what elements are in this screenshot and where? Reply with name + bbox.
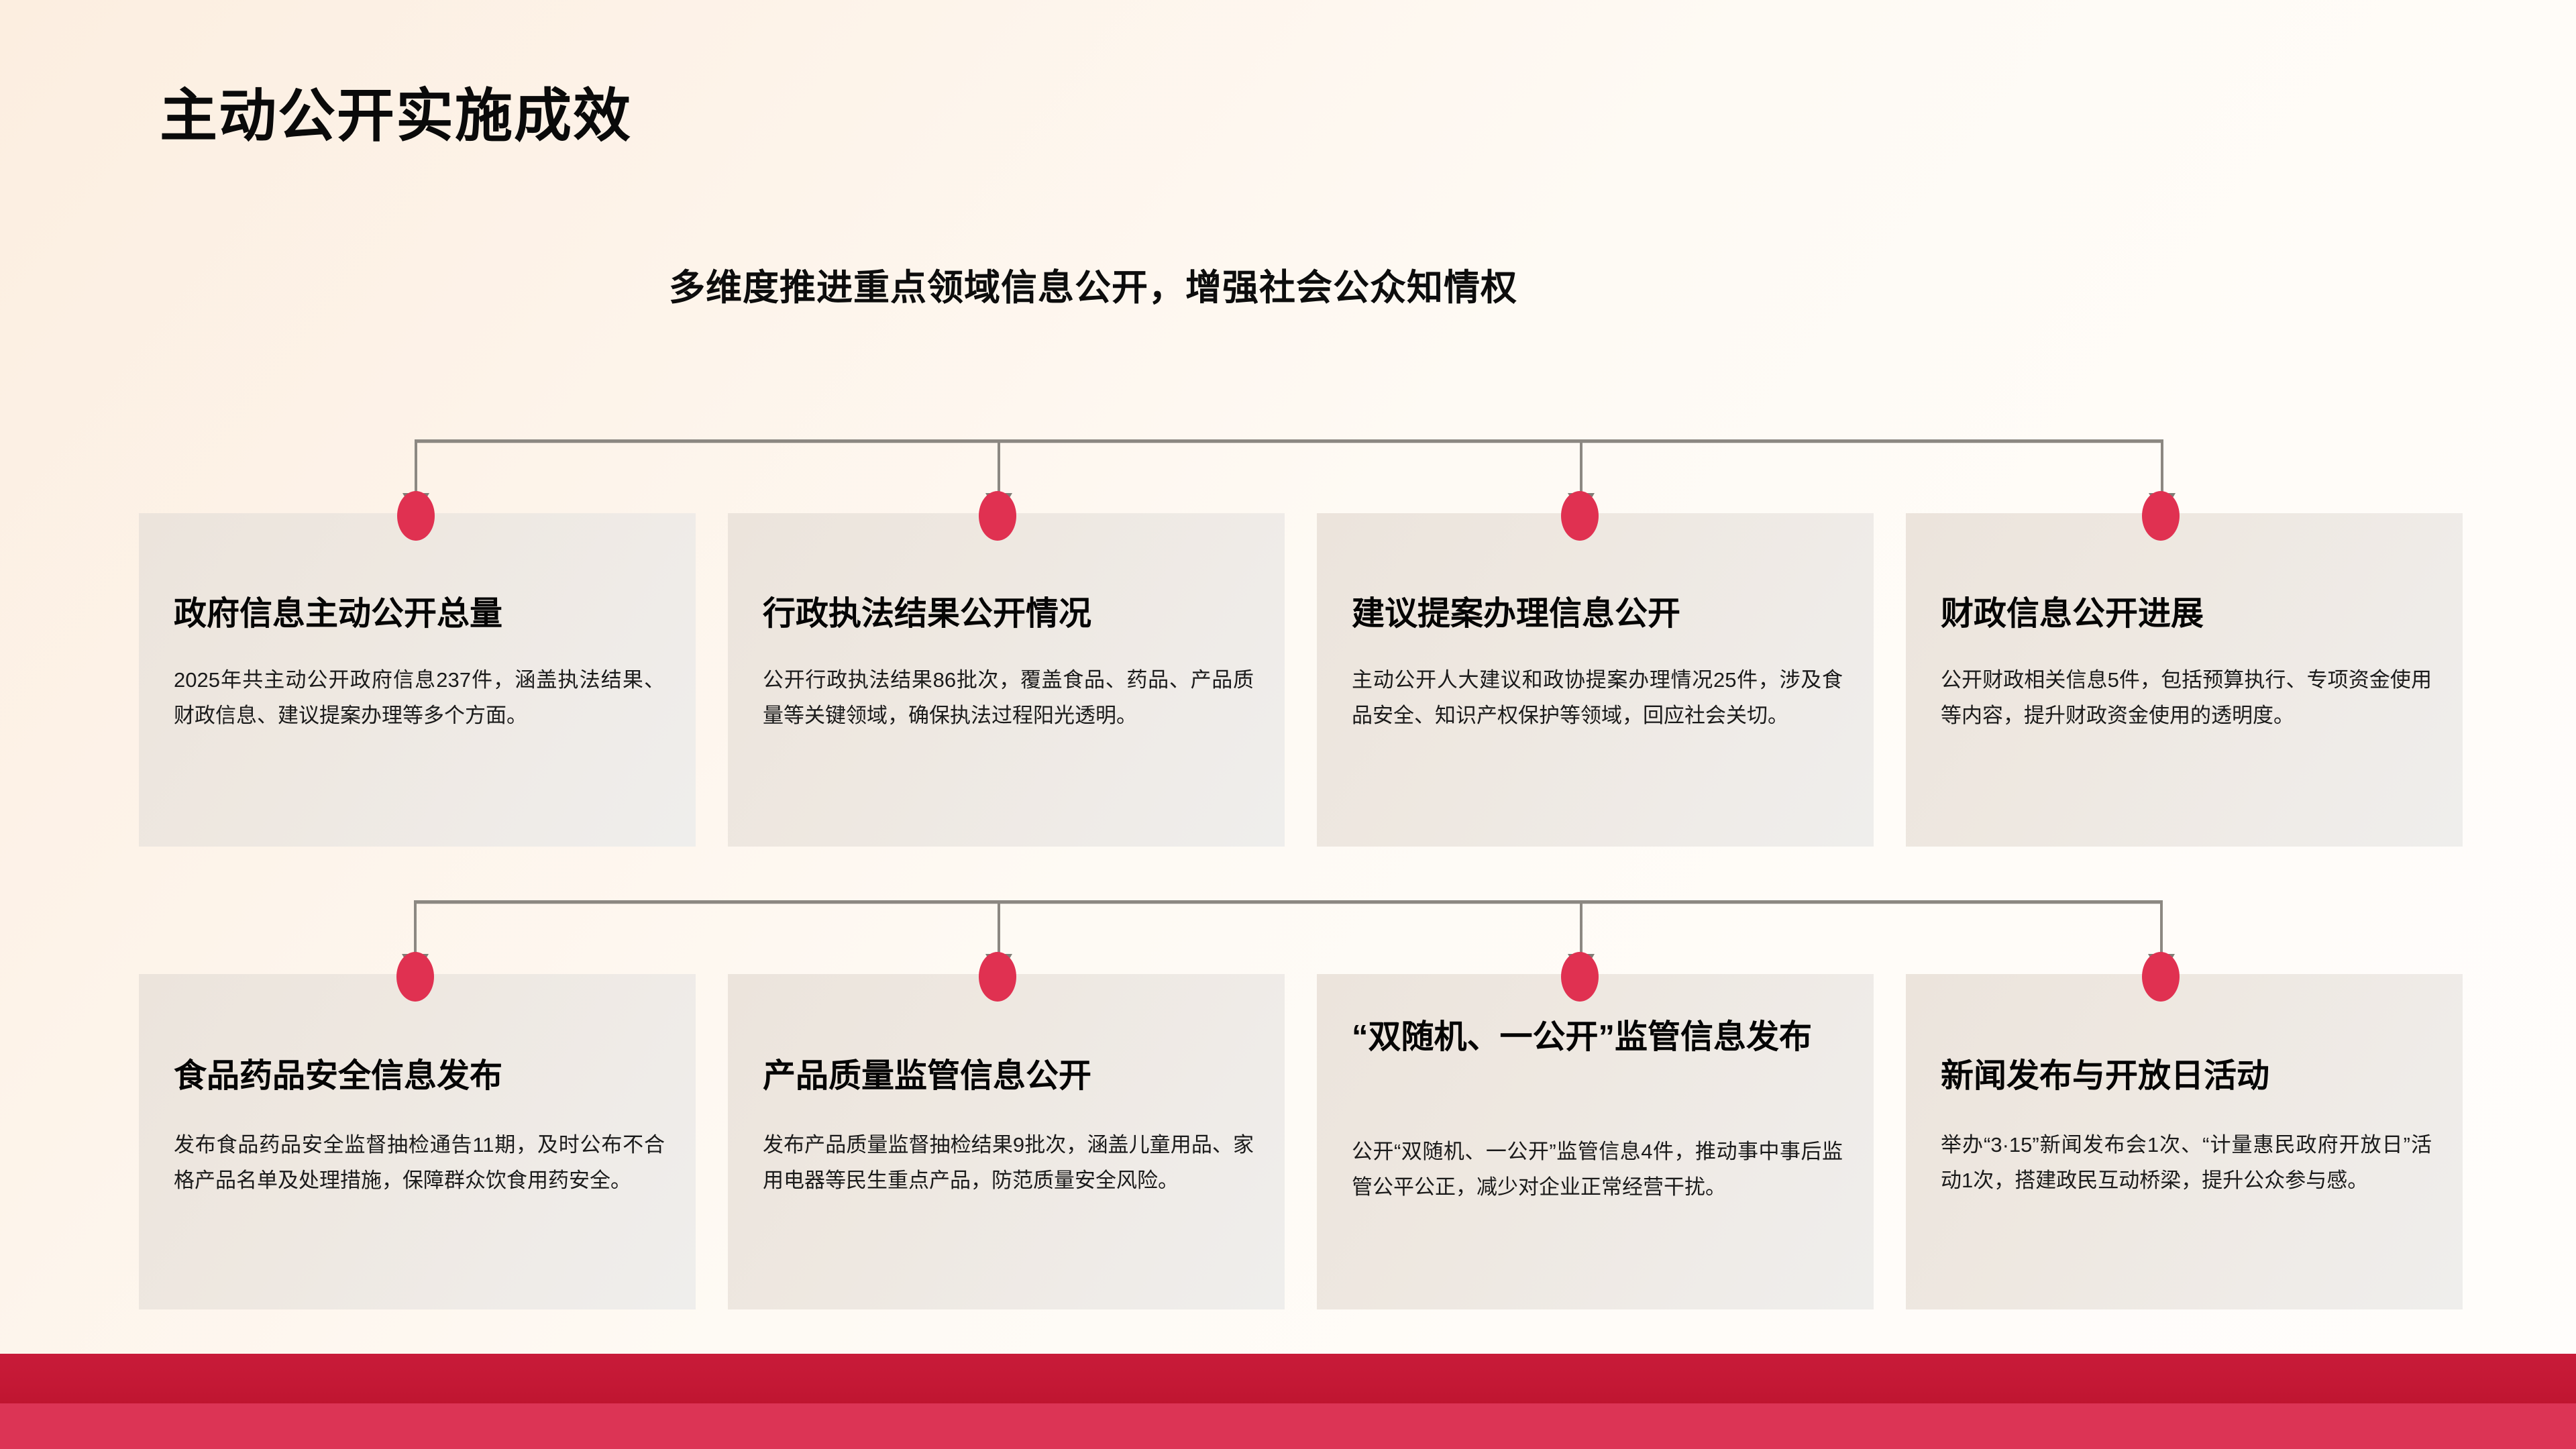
marker-dot-icon — [2142, 491, 2180, 541]
card-title: 食品药品安全信息发布 — [174, 1056, 669, 1097]
connector-horizontal-row2 — [414, 900, 2161, 904]
card-body: 2025年共主动公开政府信息237件，涵盖执法结果、财政信息、建议提案办理等多个… — [174, 662, 665, 734]
footer-bar-primary — [0, 1354, 2576, 1403]
footer-bar-secondary — [0, 1403, 2576, 1449]
card-press-release-open-day[interactable]: 新闻发布与开放日活动 举办“3·15”新闻发布会1次、“计量惠民政府开放日”活动… — [1906, 974, 2463, 1309]
card-government-info-total[interactable]: 政府信息主动公开总量 2025年共主动公开政府信息237件，涵盖执法结果、财政信… — [139, 513, 696, 847]
card-food-drug-safety[interactable]: 食品药品安全信息发布 发布食品药品安全监督抽检通告11期，及时公布不合格产品名单… — [139, 974, 696, 1309]
marker-dot-icon — [1561, 491, 1599, 541]
card-title: 政府信息主动公开总量 — [174, 594, 669, 635]
marker-dot-icon — [979, 952, 1016, 1002]
card-body: 主动公开人大建议和政协提案办理情况25件，涉及食品安全、知识产权保护等领域，回应… — [1352, 662, 1843, 734]
marker-dot-icon — [979, 491, 1016, 541]
card-law-enforcement-results[interactable]: 行政执法结果公开情况 公开行政执法结果86批次，覆盖食品、药品、产品质量等关键领… — [728, 513, 1285, 847]
card-title: 产品质量监管信息公开 — [763, 1056, 1258, 1097]
marker-dot-icon — [1561, 952, 1599, 1002]
marker-dot-icon — [396, 952, 434, 1002]
page-title: 主动公开实施成效 — [160, 87, 632, 145]
card-body: 发布食品药品安全监督抽检通告11期，及时公布不合格产品名单及处理措施，保障群众饮… — [174, 1127, 665, 1199]
slide-canvas: 主动公开实施成效 多维度推进重点领域信息公开，增强社会公众知情权 政府信息主动公… — [0, 0, 2576, 1449]
card-body: 公开“双随机、一公开”监管信息4件，推动事中事后监管公平公正，减少对企业正常经营… — [1352, 1134, 1843, 1205]
card-title: 建议提案办理信息公开 — [1352, 594, 1847, 635]
card-title: “双随机、一公开”监管信息发布 — [1352, 1017, 1847, 1058]
marker-dot-icon — [397, 491, 435, 541]
card-body: 举办“3·15”新闻发布会1次、“计量惠民政府开放日”活动1次，搭建政民互动桥梁… — [1941, 1127, 2432, 1199]
card-proposal-handling[interactable]: 建议提案办理信息公开 主动公开人大建议和政协提案办理情况25件，涉及食品安全、知… — [1317, 513, 1874, 847]
card-body: 公开行政执法结果86批次，覆盖食品、药品、产品质量等关键领域，确保执法过程阳光透… — [763, 662, 1254, 734]
card-double-random-one-public[interactable]: “双随机、一公开”监管信息发布 公开“双随机、一公开”监管信息4件，推动事中事后… — [1317, 974, 1874, 1309]
card-title: 行政执法结果公开情况 — [763, 594, 1258, 635]
card-title: 新闻发布与开放日活动 — [1941, 1056, 2436, 1097]
card-product-quality-supervision[interactable]: 产品质量监管信息公开 发布产品质量监督抽检结果9批次，涵盖儿童用品、家用电器等民… — [728, 974, 1285, 1309]
card-title: 财政信息公开进展 — [1941, 594, 2436, 635]
card-fiscal-info-progress[interactable]: 财政信息公开进展 公开财政相关信息5件，包括预算执行、专项资金使用等内容，提升财… — [1906, 513, 2463, 847]
connector-horizontal-row1 — [415, 439, 2163, 443]
marker-dot-icon — [2142, 952, 2180, 1002]
page-subtitle: 多维度推进重点领域信息公开，增强社会公众知情权 — [669, 270, 1517, 306]
card-body: 公开财政相关信息5件，包括预算执行、专项资金使用等内容，提升财政资金使用的透明度… — [1941, 662, 2432, 734]
card-body: 发布产品质量监督抽检结果9批次，涵盖儿童用品、家用电器等民生重点产品，防范质量安… — [763, 1127, 1254, 1199]
